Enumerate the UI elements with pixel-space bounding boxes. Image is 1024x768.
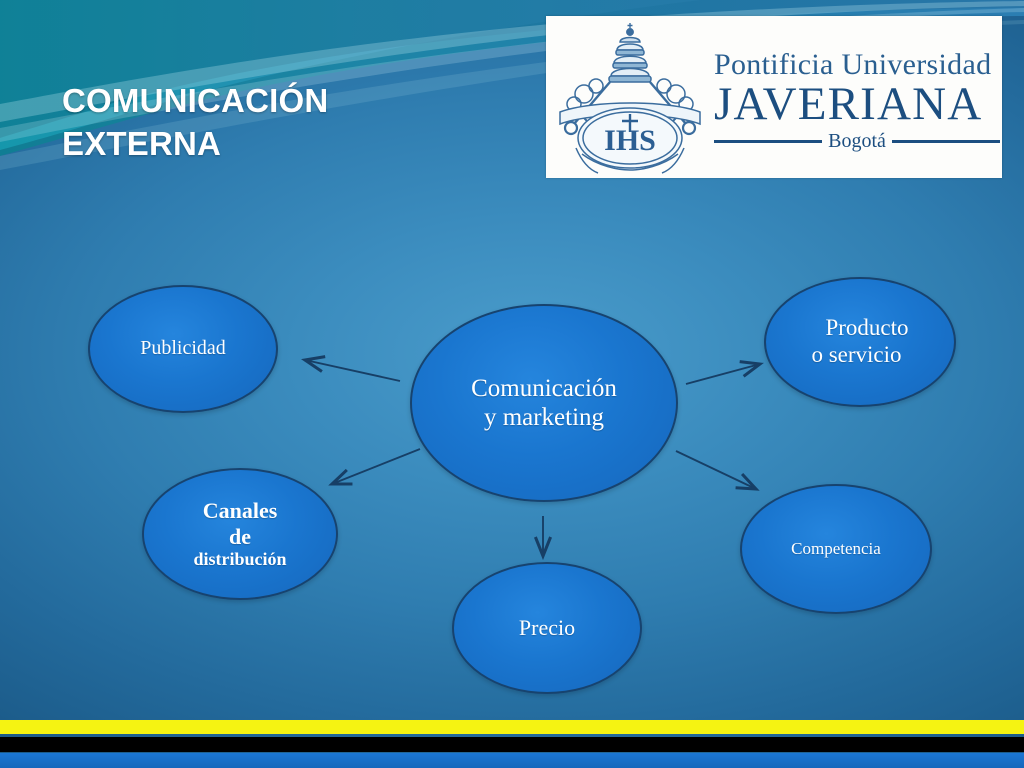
node-central-label: Comunicación y marketing (465, 374, 623, 432)
node-comunicacion-y-marketing[interactable]: Comunicación y marketing (410, 304, 678, 502)
node-precio-label: Precio (513, 615, 581, 641)
arrow-to-producto (686, 364, 760, 384)
node-competencia[interactable]: Competencia (740, 484, 932, 614)
arrow-to-competencia (676, 451, 756, 489)
node-canales-line-2: de (193, 524, 286, 550)
node-precio[interactable]: Precio (452, 562, 642, 694)
node-canales-line-1: Canales (193, 498, 286, 524)
node-central-line-1: Comunicación (471, 374, 617, 403)
arrow-to-publicidad (305, 360, 400, 381)
node-competencia-label: Competencia (785, 539, 887, 559)
node-producto-line-1: Producto (811, 315, 908, 342)
arrow-to-canales (332, 449, 420, 484)
node-producto-label: Producto o servicio (805, 315, 914, 368)
footer-bar-yellow (0, 720, 1024, 734)
node-producto[interactable]: Producto o servicio (764, 277, 956, 407)
node-publicidad-label: Publicidad (134, 337, 232, 360)
node-publicidad[interactable]: Publicidad (88, 285, 278, 413)
node-central-line-2: y marketing (471, 403, 617, 432)
presentation-slide: COMUNICACIÓN EXTERNA (0, 0, 1024, 768)
node-canales-label: Canales de distribución (187, 498, 292, 570)
node-canales-line-3: distribución (193, 549, 286, 570)
footer-bar-black (0, 737, 1024, 752)
node-canales-de-distribucion[interactable]: Canales de distribución (142, 468, 338, 600)
footer-bar-blue (0, 753, 1024, 768)
node-producto-line-2: o servicio (811, 342, 908, 369)
